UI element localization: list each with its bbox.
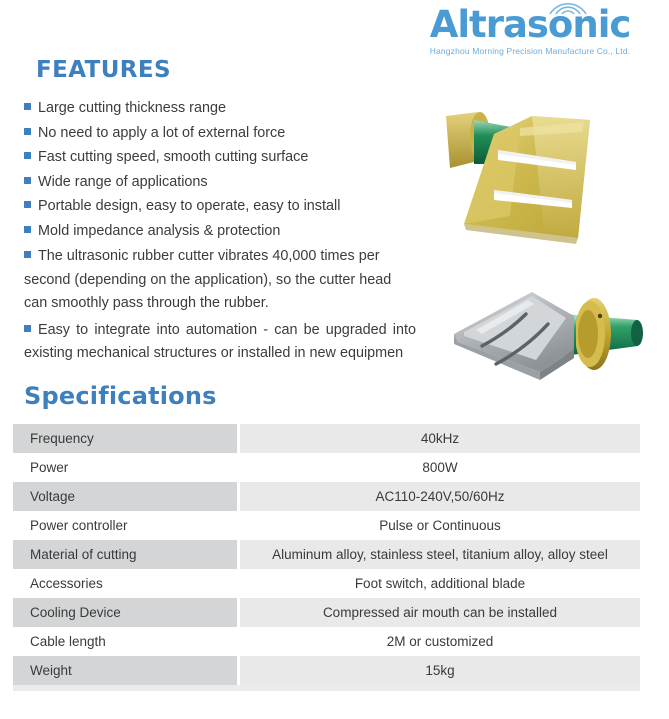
table-row: Power controller Pulse or Continuous [13, 511, 640, 540]
feature-text: The ultrasonic rubber cutter vibrates 40… [24, 248, 391, 311]
table-row: Frequency 40kHz [13, 424, 640, 453]
square-bullet-icon [24, 177, 31, 184]
spec-value: Aluminum alloy, stainless steel, titaniu… [239, 540, 641, 569]
feature-text: Fast cutting speed, smooth cutting surfa… [38, 149, 308, 165]
table-row: Power 800W [13, 453, 640, 482]
steel-blade-cutter-photo [424, 272, 656, 418]
spec-key: Power [13, 453, 239, 482]
square-bullet-icon [24, 152, 31, 159]
spec-key: Voltage [13, 482, 239, 511]
table-row: Material of cutting Aluminum alloy, stai… [13, 540, 640, 569]
specifications-heading: Specifications [24, 382, 217, 410]
feature-text: Easy to integrate into automation - can … [24, 322, 416, 362]
square-bullet-icon [24, 325, 31, 332]
table-row: Accessories Foot switch, additional blad… [13, 569, 640, 598]
features-list: Large cutting thickness range No need to… [24, 97, 416, 369]
spec-value: 800W [239, 453, 641, 482]
list-item: Mold impedance analysis & protection [24, 220, 416, 244]
square-bullet-icon [24, 201, 31, 208]
square-bullet-icon [24, 251, 31, 258]
list-item: Wide range of applications [24, 171, 416, 195]
specifications-table: Frequency 40kHz Power 800W Voltage AC110… [13, 424, 640, 685]
spec-value: Foot switch, additional blade [239, 569, 641, 598]
table-row: Weight 15kg [13, 656, 640, 685]
logo-tagline: Hangzhou Morning Precision Manufacture C… [405, 46, 655, 56]
company-logo: Altrasonic Hangzhou Morning Precision Ma… [405, 6, 655, 56]
list-item: Large cutting thickness range [24, 97, 416, 121]
spec-key: Cable length [13, 627, 239, 656]
table-row: Voltage AC110-240V,50/60Hz [13, 482, 640, 511]
spec-key: Accessories [13, 569, 239, 598]
logo-wordmark-text: Altrasonic [430, 3, 631, 46]
square-bullet-icon [24, 103, 31, 110]
feature-text: No need to apply a lot of external force [38, 125, 285, 141]
table-row: Cable length 2M or customized [13, 627, 640, 656]
spec-key: Material of cutting [13, 540, 239, 569]
feature-text: Wide range of applications [38, 174, 208, 190]
spec-value: Compressed air mouth can be installed [239, 598, 641, 627]
table-row: Cooling Device Compressed air mouth can … [13, 598, 640, 627]
logo-wordmark-wrap: Altrasonic [430, 6, 631, 45]
square-bullet-icon [24, 226, 31, 233]
spec-value: 2M or customized [239, 627, 641, 656]
list-item: Easy to integrate into automation - can … [24, 319, 416, 366]
square-bullet-icon [24, 128, 31, 135]
feature-text: Mold impedance analysis & protection [38, 223, 280, 239]
spec-value: AC110-240V,50/60Hz [239, 482, 641, 511]
spec-key: Weight [13, 656, 239, 685]
list-item: Fast cutting speed, smooth cutting surfa… [24, 146, 416, 170]
spec-value: Pulse or Continuous [239, 511, 641, 540]
gold-blade-cutter-photo [424, 98, 656, 270]
list-item: The ultrasonic rubber cutter vibrates 40… [24, 245, 416, 316]
list-item: No need to apply a lot of external force [24, 122, 416, 146]
list-item: Portable design, easy to operate, easy t… [24, 195, 416, 219]
spec-key: Power controller [13, 511, 239, 540]
spec-key: Frequency [13, 424, 239, 453]
feature-text: Large cutting thickness range [38, 100, 226, 116]
spec-value: 15kg [239, 656, 641, 685]
spec-key: Cooling Device [13, 598, 239, 627]
features-heading: FEATURES [36, 57, 171, 83]
table-bottom-strip [13, 685, 640, 691]
feature-text: Portable design, easy to operate, easy t… [38, 198, 340, 214]
spec-value: 40kHz [239, 424, 641, 453]
